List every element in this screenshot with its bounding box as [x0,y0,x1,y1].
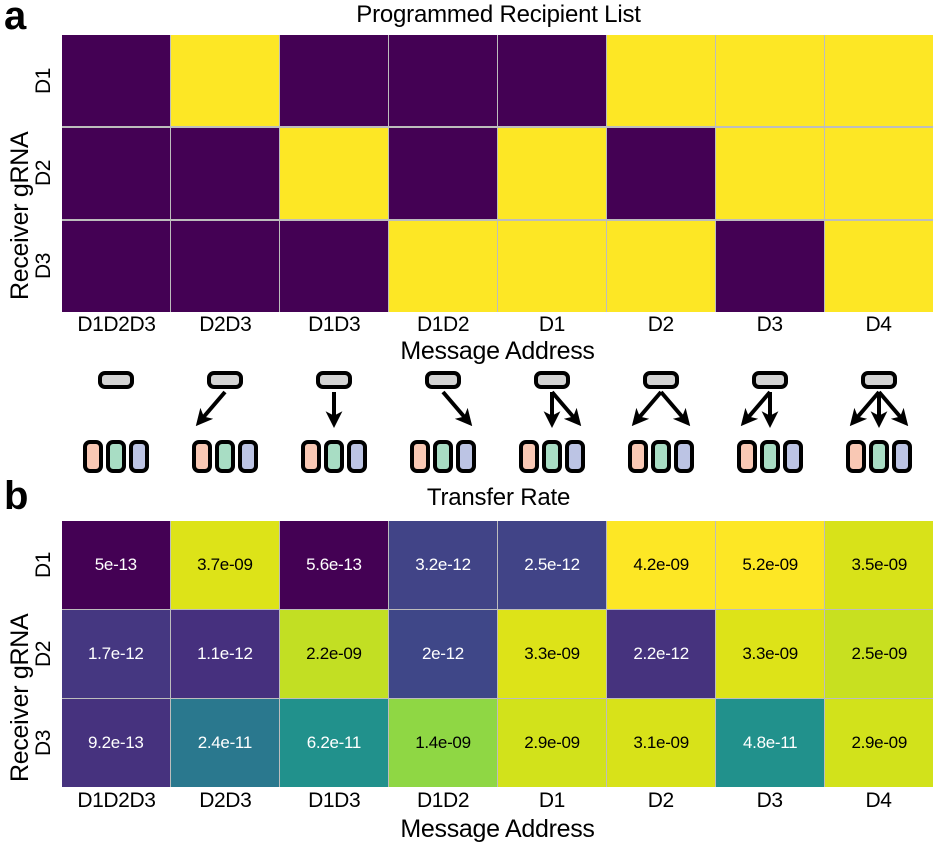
heatmap-cell [607,221,715,312]
heatmap-cell [171,221,279,312]
sender-plasmid-icon [861,371,897,389]
sender-plasmid-icon [534,371,570,389]
y-tick-a-1: D2 [32,160,56,186]
heatmap-cell-value: 9.2e-13 [62,699,170,787]
arrow-group-icon [725,389,815,433]
receiver-d2-box [215,440,235,473]
panel-b-x-tick-labels: D1D2D3D2D3D1D3D1D2D1D2D3D4 [62,789,933,813]
receiver-d1-box [192,440,212,473]
schematic-column [606,370,715,475]
y-tick-wrap-a-2: D3 [30,220,58,312]
heatmap-cell-value: 4.8e-11 [716,699,824,787]
receiver-d2-box [760,440,780,473]
heatmap-cell [498,35,606,126]
receiver-d3-box [347,440,367,473]
heatmap-cell [825,128,933,219]
receiver-d1-box [737,440,757,473]
panel-b-y-tick-labels: D1D2D3 [30,521,58,787]
heatmap-cell-value: 3.7e-09 [171,521,279,609]
arrow-icon [746,392,770,420]
heatmap-cell [498,221,606,312]
x-tick-b-7: D4 [824,789,933,813]
receiver-d1-box [301,440,321,473]
heatmap-cell-value: 2.2e-09 [280,610,388,698]
sender-receiver-schematic [62,370,933,475]
x-tick-a-4: D1 [498,313,607,337]
receiver-group [846,440,912,473]
heatmap-cell [825,35,933,126]
heatmap-cell-value: 3.3e-09 [498,610,606,698]
receiver-group [83,440,149,473]
panel-b-letter: b [4,476,28,516]
receiver-d1-box [628,440,648,473]
heatmap-cell [607,128,715,219]
x-tick-b-6: D3 [715,789,824,813]
receiver-d3-box [129,440,149,473]
heatmap-cell-value: 1.1e-12 [171,610,279,698]
heatmap-cell [716,128,824,219]
figure-root: a Programmed Recipient List Receiver gRN… [0,0,939,860]
heatmap-cell [607,35,715,126]
heatmap-cell [62,128,170,219]
receiver-group [410,440,476,473]
arrow-group-icon [398,389,488,433]
x-tick-b-4: D1 [498,789,607,813]
arrow-group-icon [507,389,597,433]
x-tick-a-1: D2D3 [171,313,280,337]
x-tick-b-0: D1D2D3 [62,789,171,813]
receiver-group [519,440,585,473]
y-tick-wrap-b-0: D1 [30,521,58,610]
receiver-d2-box [542,440,562,473]
heatmap-cell-value: 2.4e-11 [171,699,279,787]
panel-a-y-tick-labels: D1D2D3 [30,35,58,312]
arrow-group-icon [616,389,706,433]
schematic-column [498,370,607,475]
receiver-d3-box [565,440,585,473]
heatmap-cell [716,221,824,312]
schematic-column [280,370,389,475]
schematic-column [171,370,280,475]
receiver-d1-box [83,440,103,473]
receiver-d1-box [519,440,539,473]
panel-a-x-axis-label: Message Address [62,337,933,366]
panel-a-letter: a [4,0,26,36]
receiver-d2-box [869,440,889,473]
y-tick-wrap-b-2: D3 [30,698,58,787]
heatmap-cell-value: 3.5e-09 [825,521,933,609]
heatmap-cell-value: 3.3e-09 [716,610,824,698]
x-tick-b-3: D1D2 [389,789,498,813]
heatmap-cell [825,221,933,312]
heatmap-cell [716,35,824,126]
receiver-group [628,440,694,473]
arrow-group-icon [289,389,379,433]
receiver-d3-box [892,440,912,473]
x-tick-b-2: D1D3 [280,789,389,813]
receiver-group [301,440,367,473]
receiver-d1-box [846,440,866,473]
heatmap-cell-value: 1.4e-09 [389,699,497,787]
panel-b-x-axis-label: Message Address [62,815,933,844]
x-tick-a-5: D2 [606,313,715,337]
heatmap-cell-value: 2.5e-09 [825,610,933,698]
heatmap-cell-value: 3.1e-09 [607,699,715,787]
x-tick-a-0: D1D2D3 [62,313,171,337]
heatmap-cell-value: 6.2e-11 [280,699,388,787]
arrow-icon [661,392,685,420]
heatmap-cell-value: 5e-13 [62,521,170,609]
arrow-group-icon [834,389,924,433]
x-tick-b-1: D2D3 [171,789,280,813]
heatmap-cell [498,128,606,219]
x-tick-a-7: D4 [824,313,933,337]
receiver-d2-box [106,440,126,473]
heatmap-cell-value: 2.5e-12 [498,521,606,609]
receiver-group [737,440,803,473]
panel-a-x-tick-labels: D1D2D3D2D3D1D3D1D2D1D2D3D4 [62,313,933,337]
receiver-d3-box [456,440,476,473]
sender-plasmid-icon [643,371,679,389]
y-tick-a-0: D1 [32,68,56,94]
panel-b-title: Transfer Rate [62,484,935,512]
arrow-icon [201,392,225,420]
heatmap-cell [389,128,497,219]
receiver-d2-box [433,440,453,473]
heatmap-cell [389,221,497,312]
sender-plasmid-icon [207,371,243,389]
panel-a-heatmap [62,35,933,312]
heatmap-cell-value: 5.6e-13 [280,521,388,609]
x-tick-a-6: D3 [715,313,824,337]
heatmap-cell [280,221,388,312]
y-tick-wrap-a-1: D2 [30,127,58,219]
heatmap-cell-value: 1.7e-12 [62,610,170,698]
arrow-icon [879,392,903,420]
sender-plasmid-icon [425,371,461,389]
heatmap-cell [171,35,279,126]
y-tick-b-0: D1 [32,552,56,578]
x-tick-a-3: D1D2 [389,313,498,337]
heatmap-cell-value: 5.2e-09 [716,521,824,609]
y-tick-wrap-a-0: D1 [30,35,58,127]
panel-b-heatmap: 5e-133.7e-095.6e-133.2e-122.5e-124.2e-09… [62,521,933,787]
arrow-icon [443,392,467,420]
heatmap-cell [62,221,170,312]
receiver-d2-box [324,440,344,473]
sender-plasmid-icon [752,371,788,389]
receiver-d3-box [238,440,258,473]
schematic-column [389,370,498,475]
heatmap-cell [62,35,170,126]
heatmap-cell-value: 2e-12 [389,610,497,698]
heatmap-cell [280,35,388,126]
heatmap-cell [171,128,279,219]
x-tick-a-2: D1D3 [280,313,389,337]
arrow-icon [855,392,879,420]
heatmap-cell [389,35,497,126]
receiver-d3-box [783,440,803,473]
receiver-d3-box [674,440,694,473]
heatmap-cell-value: 2.9e-09 [498,699,606,787]
x-tick-b-5: D2 [606,789,715,813]
receiver-group [192,440,258,473]
sender-plasmid-icon [98,371,134,389]
arrow-icon [552,392,576,420]
sender-plasmid-icon [316,371,352,389]
heatmap-cell-value: 2.2e-12 [607,610,715,698]
heatmap-cell-value: 2.9e-09 [825,699,933,787]
arrow-icon [637,392,661,420]
schematic-column [715,370,824,475]
receiver-d2-box [651,440,671,473]
schematic-column [62,370,171,475]
y-tick-wrap-b-1: D2 [30,610,58,699]
heatmap-cell-value: 3.2e-12 [389,521,497,609]
receiver-d1-box [410,440,430,473]
arrow-group-icon [180,389,270,433]
schematic-column [824,370,933,475]
y-tick-b-1: D2 [32,641,56,667]
heatmap-cell [280,128,388,219]
heatmap-cell-value: 4.2e-09 [607,521,715,609]
y-tick-b-2: D3 [32,730,56,756]
panel-a-title: Programmed Recipient List [62,1,935,29]
y-tick-a-2: D3 [32,253,56,279]
